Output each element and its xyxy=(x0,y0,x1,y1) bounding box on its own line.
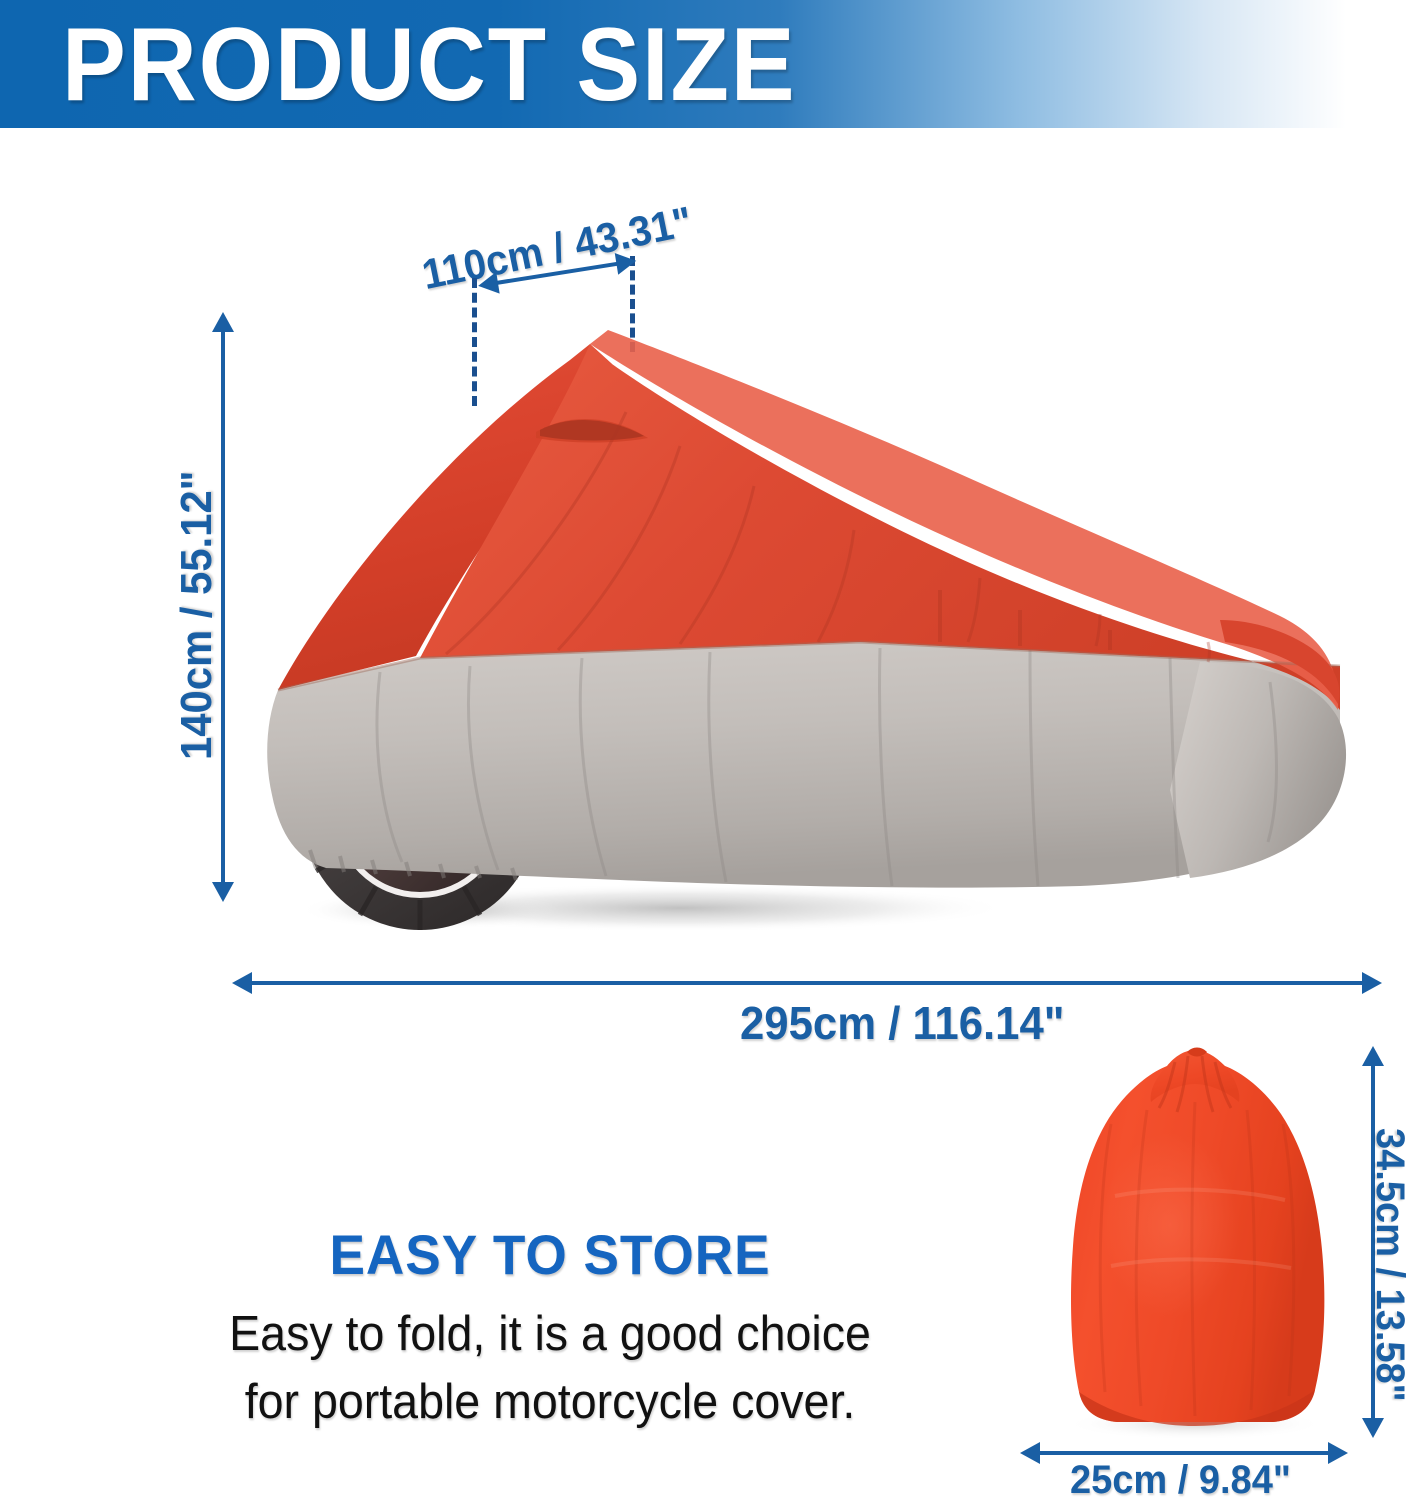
motorcycle-cover-illustration xyxy=(240,290,1370,970)
arrowhead-up xyxy=(1362,1046,1384,1066)
arrowhead-down xyxy=(212,882,234,902)
product-size-infographic: PRODUCT SIZE 110cm / 43.31" 140cm / 55.1… xyxy=(0,0,1417,1500)
dimension-arrow-cover-length xyxy=(232,968,1382,998)
easy-to-store-body-line-1: Easy to fold, it is a good choice xyxy=(132,1300,968,1368)
dimension-label-cover-height: 140cm / 55.12" xyxy=(172,471,222,760)
easy-to-store-body-line-2: for portable motorcycle cover. xyxy=(132,1368,968,1436)
arrow-shaft xyxy=(1036,1451,1332,1455)
header-banner: PRODUCT SIZE xyxy=(0,0,1417,128)
bag-sheen xyxy=(1101,1126,1265,1346)
page-title: PRODUCT SIZE xyxy=(62,6,796,124)
arrowhead-right xyxy=(615,250,638,275)
arrowhead-left xyxy=(232,972,252,994)
arrowhead-down xyxy=(1362,1418,1384,1438)
storage-bag-illustration xyxy=(1055,1040,1345,1440)
arrow-shaft xyxy=(248,981,1366,985)
easy-to-store-heading: EASY TO STORE xyxy=(142,1222,959,1287)
arrowhead-left xyxy=(1020,1442,1040,1464)
arrowhead-right xyxy=(1328,1442,1348,1464)
dimension-label-bag-height: 34.5cm / 13.58" xyxy=(1367,1128,1412,1402)
arrowhead-up xyxy=(212,312,234,332)
easy-to-store-body: Easy to fold, it is a good choice for po… xyxy=(132,1300,968,1436)
dimension-label-cover-length: 295cm / 116.14" xyxy=(740,996,1064,1050)
arrowhead-right xyxy=(1362,972,1382,994)
dimension-label-bag-width: 25cm / 9.84" xyxy=(1070,1458,1291,1500)
